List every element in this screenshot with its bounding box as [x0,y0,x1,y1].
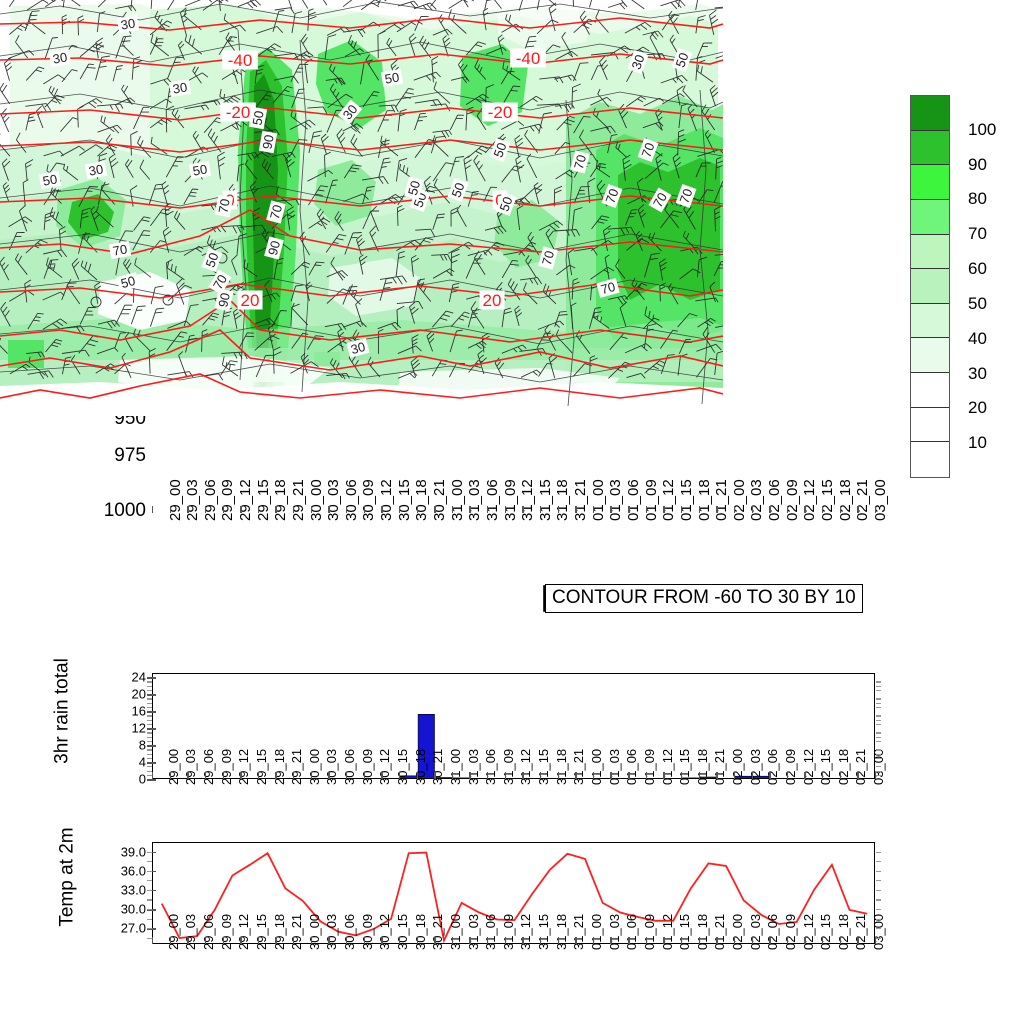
contour-label-50: 50 [192,161,209,178]
main-x-tickmark [875,506,876,513]
rain-minor-tick [876,737,881,738]
time-tick-01_21: 01_21 [713,479,730,521]
time-tick-02_00: 02_00 [730,749,745,785]
contour-label-30: 30 [88,161,105,178]
main-x-tickmark [258,506,259,513]
colorbar-band-4 [911,235,949,270]
time-tick-02_18: 02_18 [836,914,851,950]
time-tick-02_03: 02_03 [748,479,765,521]
main-x-tickmark [628,506,629,513]
temp-minor-tick [147,909,152,910]
temp-x-tickmark [663,937,664,944]
time-tick-31_03: 31_03 [466,914,481,950]
contour-label-70: 70 [112,241,129,258]
rain-x-tickmark [469,772,470,779]
time-tick-01_09: 01_09 [643,479,660,521]
rain-x-tickmark [152,772,153,779]
contour-label--40: -40 [516,49,541,68]
contour-label-20: 20 [483,291,502,310]
colorbar-band-3 [911,200,949,235]
time-tick-30_03: 30_03 [325,479,342,521]
main-x-tickmark [787,506,788,513]
main-plot-svg: -40-40-20-200020203030305030305050905050… [0,0,723,416]
temp-y-tick-labels: 39.036.033.030.027.0 [92,842,146,944]
time-tick-31_12: 31_12 [518,914,533,950]
rain-x-tickmark [258,772,259,779]
temp-x-tickmark [769,937,770,944]
contour-label-90: 90 [215,291,233,308]
time-tick-01_18: 01_18 [696,479,713,521]
main-x-tickmark [699,506,700,513]
temp-minor-tick [876,861,881,862]
contour-label-70: 70 [215,198,232,215]
temp-tick-36.0: 36.0 [121,863,146,878]
temp-x-tickmark [628,937,629,944]
contour-label--20: -20 [226,103,251,122]
time-tick-03_00: 03_00 [872,479,889,521]
time-tick-02_00: 02_00 [731,479,748,521]
temp-x-tickmark [152,937,153,944]
rain-y-tick-labels: 24201612840 [100,673,146,779]
time-tick-02_09: 02_09 [784,479,801,521]
time-tick-02_18: 02_18 [837,479,854,521]
rain-x-tickmark [875,772,876,779]
contour-label-50: 50 [42,171,59,188]
main-x-tickmark [417,506,418,513]
temp-minor-tick [147,899,152,900]
temp-x-tickmark [540,937,541,944]
time-tick-02_03: 02_03 [748,914,763,950]
rain-tickmark [147,694,156,696]
rain-x-tickmark [769,772,770,779]
time-tick-29_06: 29_06 [201,749,216,785]
time-tick-29_06: 29_06 [201,914,216,950]
time-tick-29_03: 29_03 [183,749,198,785]
main-x-tickmark [434,506,435,513]
temp-x-tickmark [469,937,470,944]
main-x-tickmark [646,506,647,513]
time-tick-29_09: 29_09 [219,914,234,950]
temp-x-tickmark [593,937,594,944]
time-tick-01_09: 01_09 [642,914,657,950]
rain-minor-tick [147,715,152,716]
temp-minor-tick [876,899,881,900]
main-x-tickmark [734,506,735,513]
rain-minor-tick [876,703,881,704]
temp-x-tickmark [311,937,312,944]
time-tick-30_03: 30_03 [324,914,339,950]
rain-x-tickmark [522,772,523,779]
time-tick-01_06: 01_06 [624,749,639,785]
time-tick-31_21: 31_21 [571,749,586,785]
time-tick-31_18: 31_18 [554,914,569,950]
main-x-tickmark [752,506,753,513]
rain-x-tickmark [205,772,206,779]
time-tick-30_18: 30_18 [413,479,430,521]
colorbar-tick-80: 80 [968,189,987,209]
time-tick-31_12: 31_12 [519,479,536,521]
time-tick-31_00: 31_00 [449,479,466,521]
time-tick-29_06: 29_06 [202,479,219,521]
main-x-tickmark [681,506,682,513]
time-tick-30_06: 30_06 [343,479,360,521]
temp-x-tickmark [187,937,188,944]
time-tick-29_09: 29_09 [219,749,234,785]
colorbar-tick-60: 60 [968,259,987,279]
time-tick-31_15: 31_15 [537,479,554,521]
time-tick-30_15: 30_15 [395,914,410,950]
contour-label-50: 50 [384,69,401,86]
time-tick-31_00: 31_00 [448,749,463,785]
temp-tick-27.0: 27.0 [121,921,146,936]
main-x-tickmark [452,506,453,513]
main-x-tickmark [540,506,541,513]
rain-x-tickmark [787,772,788,779]
temp-x-tickmark [452,937,453,944]
temp-x-tickmark [346,937,347,944]
rain-x-tickmark [540,772,541,779]
pressure-tick-975: 975 [114,445,146,467]
time-tick-02_15: 02_15 [818,749,833,785]
temp-minor-tick [876,909,881,910]
time-tick-30_09: 30_09 [360,479,377,521]
time-tick-30_00: 30_00 [307,749,322,785]
temp-x-tickmark [575,937,576,944]
time-tick-30_15: 30_15 [395,749,410,785]
time-tick-01_00: 01_00 [590,479,607,521]
time-tick-01_06: 01_06 [625,479,642,521]
main-x-tickmark [663,506,664,513]
temp-x-tickmark [505,937,506,944]
main-x-tickmark [822,506,823,513]
rain-x-tickmark [311,772,312,779]
rain-minor-tick [876,720,881,721]
contour-label--20: -20 [488,103,513,122]
rain-x-tickmark [804,772,805,779]
colorbar-tick-10: 10 [968,433,987,453]
rain-minor-tick [147,698,152,699]
rain-tickmark [147,711,156,713]
time-tick-29_15: 29_15 [254,749,269,785]
rain-minor-tick [876,749,881,750]
rain-minor-tick [147,690,152,691]
time-tick-02_18: 02_18 [836,749,851,785]
rain-x-tickmark [170,772,171,779]
time-tick-30_06: 30_06 [342,914,357,950]
time-tick-01_15: 01_15 [678,479,695,521]
temp-x-tickmark [170,937,171,944]
temp-x-tickmark [434,937,435,944]
rain-tick-0: 0 [139,772,146,787]
temp-x-tickmark [716,937,717,944]
rain-x-tickmark [505,772,506,779]
rain-minor-tick [876,715,881,716]
rain-x-tickmark [452,772,453,779]
main-x-tickmark [575,506,576,513]
rain-tickmark [147,779,156,781]
colorbar-band-9 [911,408,949,443]
time-tick-01_18: 01_18 [695,749,710,785]
rain-x-tickmark [699,772,700,779]
contour-label-30: 30 [172,79,189,96]
rain-minor-tick [147,766,152,767]
temp-x-tickmark [417,937,418,944]
main-x-tickmark [170,506,171,513]
temp-minor-tick [876,938,881,939]
time-tick-01_12: 01_12 [660,749,675,785]
temp-x-tickmark [293,937,294,944]
rain-minor-tick [147,737,152,738]
temp-minor-tick [147,919,152,920]
rain-x-tickmark [752,772,753,779]
temp-minor-tick [147,871,152,872]
rain-minor-tick [876,724,881,725]
rain-x-tickmark [593,772,594,779]
rain-tick-24: 24 [132,670,146,685]
time-tick-01_15: 01_15 [677,914,692,950]
pressure-tick-1000: 1000 [104,500,146,522]
temp-minor-tick [876,852,881,853]
rain-x-tickmark [628,772,629,779]
time-tick-01_21: 01_21 [712,749,727,785]
time-tick-01_21: 01_21 [712,914,727,950]
rain-minor-tick [147,686,152,687]
time-tick-30_09: 30_09 [360,914,375,950]
contour-note: CONTOUR FROM -60 TO 30 BY 10 [545,584,863,613]
temp-x-tickmark [240,937,241,944]
temp-x-tick-labels: 29_0029_0329_0629_0929_1229_1529_1829_21… [152,948,875,1010]
time-tick-29_12: 29_12 [236,914,251,950]
temp-minor-tick [876,890,881,891]
temp-x-tickmark [223,937,224,944]
colorbar-band-0 [911,96,949,131]
time-tick-30_12: 30_12 [377,749,392,785]
colorbar-band-1 [911,131,949,166]
time-tick-01_18: 01_18 [695,914,710,950]
time-tick-02_15: 02_15 [819,479,836,521]
rain-x-tickmark [822,772,823,779]
rain-minor-tick [147,681,152,682]
time-tick-02_21: 02_21 [854,479,871,521]
temp-minor-tick [147,861,152,862]
temp-x-tickmark [522,937,523,944]
time-tick-02_09: 02_09 [783,914,798,950]
rain-x-tickmark [487,772,488,779]
time-tick-29_12: 29_12 [237,479,254,521]
rain-minor-tick [876,766,881,767]
main-x-tickmark [293,506,294,513]
temp-x-tickmark [840,937,841,944]
rain-minor-tick [147,724,152,725]
rain-minor-tick [147,749,152,750]
temp-minor-tick [147,928,152,929]
time-tick-29_00: 29_00 [166,914,181,950]
time-tick-31_15: 31_15 [536,914,551,950]
rain-minor-tick [876,707,881,708]
time-tick-31_09: 31_09 [501,749,516,785]
temp-minor-tick [147,852,152,853]
rain-tick-16: 16 [132,704,146,719]
time-tick-29_03: 29_03 [183,914,198,950]
time-tick-01_00: 01_00 [589,749,604,785]
rain-minor-tick [876,698,881,699]
time-tick-31_06: 31_06 [484,479,501,521]
rain-tick-8: 8 [139,738,146,753]
colorbar-band-6 [911,304,949,339]
time-tick-29_00: 29_00 [166,749,181,785]
time-tick-02_12: 02_12 [801,914,816,950]
time-tick-01_00: 01_00 [589,914,604,950]
temp-x-tickmark [610,937,611,944]
main-x-tickmark [505,506,506,513]
rain-tickmark [147,762,156,764]
temp-minor-tick [876,871,881,872]
rain-x-tickmark [346,772,347,779]
rain-minor-tick [876,686,881,687]
time-height-cross-section-plot: -40-40-20-200020203030305030305050905050… [0,0,723,416]
rain-x-tickmark [646,772,647,779]
time-tick-01_12: 01_12 [660,914,675,950]
main-x-tickmark [346,506,347,513]
time-tick-01_06: 01_06 [624,914,639,950]
contour-label-50: 50 [249,110,266,127]
time-tick-29_18: 29_18 [272,479,289,521]
temp-tick-33.0: 33.0 [121,882,146,897]
rain-minor-tick [876,771,881,772]
rain-tickmark [147,745,156,747]
rain-x-tickmark [223,772,224,779]
time-tick-30_06: 30_06 [342,749,357,785]
temp-x-tickmark [364,937,365,944]
main-x-tick-labels: 29_0029_0329_0629_0929_1229_1529_1829_21… [152,519,875,589]
main-x-tickmark [610,506,611,513]
main-x-tickmark [522,506,523,513]
time-tick-31_09: 31_09 [501,914,516,950]
temp-x-tickmark [487,937,488,944]
temp-x-tickmark [275,937,276,944]
temp-x-tickmark [857,937,858,944]
main-x-tickmark [840,506,841,513]
time-tick-30_12: 30_12 [378,479,395,521]
rain-tickmark [147,677,156,679]
rain-x-tickmark [417,772,418,779]
contour-label-30: 30 [120,15,137,32]
rain-minor-tick [147,703,152,704]
temp-x-tickmark [328,937,329,944]
rain-minor-tick [147,720,152,721]
rain-x-tickmark [734,772,735,779]
rain-x-tickmark [187,772,188,779]
temp-y-axis-label: Temp at 2m [57,790,79,965]
time-tick-31_06: 31_06 [483,749,498,785]
main-x-tickmark [152,506,153,513]
temp-x-tickmark [258,937,259,944]
time-tick-29_21: 29_21 [290,479,307,521]
colorbar-band-10 [911,442,949,477]
rain-tick-4: 4 [139,755,146,770]
rain-minor-tick [147,732,152,733]
rain-x-tickmark [610,772,611,779]
contour-label-90: 90 [259,134,276,151]
rain-x-tickmark [558,772,559,779]
rain-minor-tick [876,741,881,742]
rain-tick-12: 12 [132,721,146,736]
time-tick-29_12: 29_12 [236,749,251,785]
main-x-tickmark [804,506,805,513]
colorbar-band-5 [911,269,949,304]
temp-minor-tick [876,928,881,929]
colorbar-tick-90: 90 [968,155,987,175]
colorbar-tick-30: 30 [968,364,987,384]
time-tick-31_15: 31_15 [536,749,551,785]
time-tick-02_06: 02_06 [766,479,783,521]
colorbar-band-8 [911,373,949,408]
rain-tick-20: 20 [132,687,146,702]
rain-x-tickmark [857,772,858,779]
temp-x-tickmark [699,937,700,944]
rain-tickmark [147,728,156,730]
rain-minor-tick [876,754,881,755]
time-tick-02_15: 02_15 [818,914,833,950]
time-tick-02_21: 02_21 [853,749,868,785]
time-tick-29_21: 29_21 [289,914,304,950]
temp-minor-tick [147,880,152,881]
temp-x-tickmark [734,937,735,944]
time-tick-02_09: 02_09 [783,749,798,785]
time-tick-29_21: 29_21 [289,749,304,785]
main-x-tickmark [328,506,329,513]
rain-minor-tick [876,690,881,691]
temp-tick-39.0: 39.0 [121,844,146,859]
time-tick-29_09: 29_09 [219,479,236,521]
rain-minor-tick [147,758,152,759]
time-tick-30_18: 30_18 [413,914,428,950]
time-tick-30_12: 30_12 [377,914,392,950]
main-x-tickmark [716,506,717,513]
main-x-tickmark [311,506,312,513]
time-tick-30_18: 30_18 [413,749,428,785]
time-tick-31_06: 31_06 [483,914,498,950]
main-x-tickmark [399,506,400,513]
time-tick-02_12: 02_12 [801,479,818,521]
rain-minor-tick [876,681,881,682]
time-tick-31_09: 31_09 [502,479,519,521]
temp-x-tickmark [822,937,823,944]
time-tick-30_00: 30_00 [308,479,325,521]
time-tick-30_00: 30_00 [307,914,322,950]
time-tick-02_00: 02_00 [730,914,745,950]
contour-label--40: -40 [228,51,253,70]
main-x-tickmark [593,506,594,513]
time-tick-02_06: 02_06 [765,749,780,785]
rain-x-tickmark [364,772,365,779]
contour-label-20: 20 [241,291,260,310]
temp-x-tickmark [681,937,682,944]
temp-x-tickmark [787,937,788,944]
rain-minor-tick [876,732,881,733]
rain-x-tickmark [575,772,576,779]
time-tick-02_03: 02_03 [748,749,763,785]
rain-x-tickmark [240,772,241,779]
rain-minor-tick [876,758,881,759]
time-tick-29_18: 29_18 [272,914,287,950]
rain-x-tickmark [840,772,841,779]
time-tick-01_03: 01_03 [607,479,624,521]
rain-x-tickmark [716,772,717,779]
main-x-tickmark [240,506,241,513]
rain-x-tickmark [328,772,329,779]
temp-x-tickmark [752,937,753,944]
